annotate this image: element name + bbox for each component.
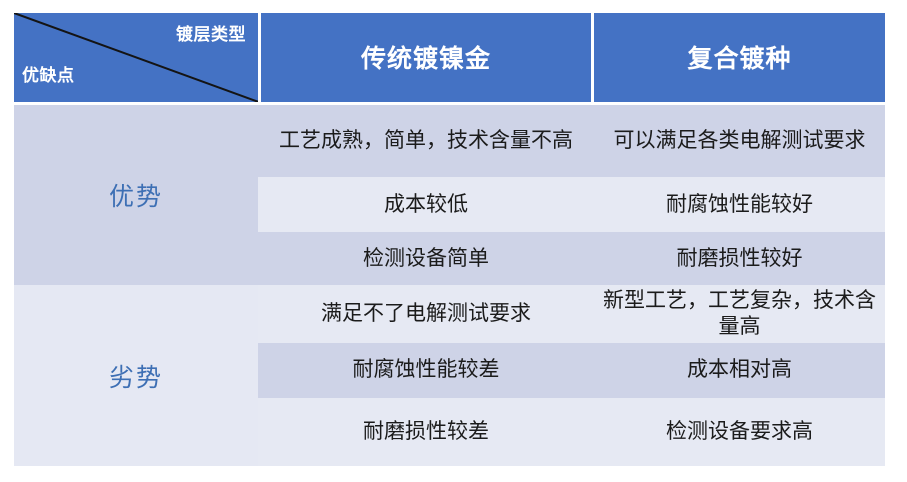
column-header-traditional: 传统镀镍金 — [258, 13, 594, 102]
header-corner-top-label: 镀层类型 — [176, 20, 246, 45]
cell-composite-advantage-2: 耐腐蚀性能较好 — [594, 177, 885, 232]
table-row: 劣势 满足不了电解测试要求 新型工艺，工艺复杂，技术含量高 — [14, 285, 885, 342]
cell-composite-advantage-3: 耐磨损性较好 — [594, 232, 885, 285]
cell-traditional-advantage-2: 成本较低 — [258, 177, 594, 232]
cell-composite-advantage-1: 可以满足各类电解测试要求 — [594, 105, 885, 177]
header-corner-cell: 镀层类型 优缺点 — [14, 13, 258, 102]
cell-traditional-advantage-1: 工艺成熟，简单，技术含量不高 — [258, 105, 594, 177]
column-header-composite: 复合镀种 — [594, 13, 885, 102]
cell-traditional-disadvantage-2: 耐腐蚀性能较差 — [258, 343, 594, 398]
cell-traditional-disadvantage-3: 耐磨损性较差 — [258, 398, 594, 466]
comparison-table-container: 镀层类型 优缺点 传统镀镍金 复合镀种 优势 工艺成熟，简单，技术含量不高 可以… — [14, 13, 885, 466]
cell-composite-disadvantage-2: 成本相对高 — [594, 343, 885, 398]
cell-traditional-advantage-3: 检测设备简单 — [258, 232, 594, 285]
cell-composite-disadvantage-3: 检测设备要求高 — [594, 398, 885, 466]
section-label-disadvantages: 劣势 — [14, 285, 258, 466]
plating-comparison-table: 镀层类型 优缺点 传统镀镍金 复合镀种 优势 工艺成熟，简单，技术含量不高 可以… — [14, 13, 885, 466]
header-corner-bottom-label: 优缺点 — [22, 61, 75, 86]
cell-composite-disadvantage-1: 新型工艺，工艺复杂，技术含量高 — [594, 285, 885, 342]
section-label-advantages: 优势 — [14, 105, 258, 286]
table-row: 优势 工艺成熟，简单，技术含量不高 可以满足各类电解测试要求 — [14, 105, 885, 177]
table-header-row: 镀层类型 优缺点 传统镀镍金 复合镀种 — [14, 13, 885, 102]
cell-traditional-disadvantage-1: 满足不了电解测试要求 — [258, 285, 594, 342]
